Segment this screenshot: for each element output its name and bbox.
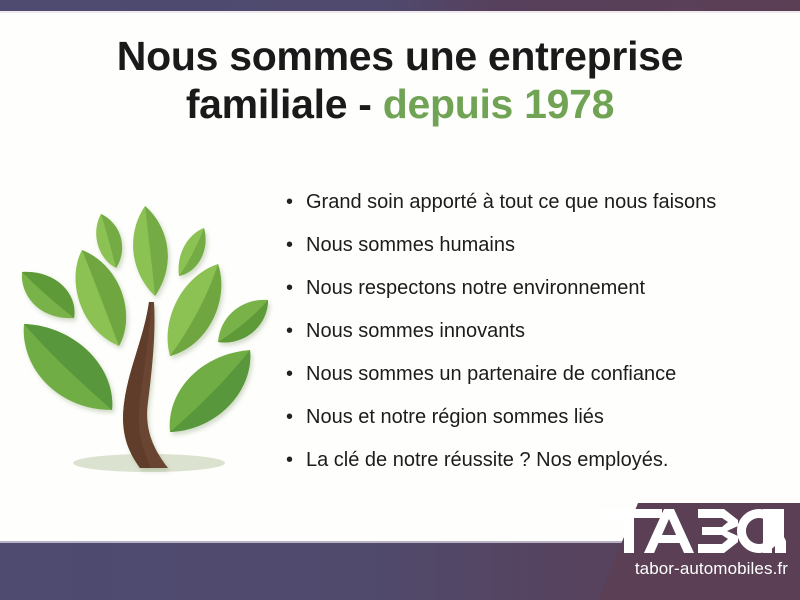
tabor-logo-wordmark (598, 509, 786, 553)
bullet-marker-icon: • (286, 235, 306, 255)
bullet-marker-icon: • (286, 407, 306, 427)
tree-leaf (133, 206, 168, 296)
list-item: • Nous sommes un partenaire de confiance (286, 363, 786, 406)
list-item-label: Nous respectons notre environnement (306, 277, 645, 300)
logo-tagline: tabor-automobiles.fr (560, 559, 788, 579)
list-item: • Nous sommes humains (286, 234, 786, 277)
bullet-marker-icon: • (286, 321, 306, 341)
title-line-2-accent: depuis 1978 (383, 81, 614, 127)
title-line-2-main: familiale - (186, 81, 383, 127)
list-item-label: Nous sommes humains (306, 234, 515, 257)
top-accent-bar (0, 0, 800, 11)
list-item: • Nous respectons notre environnement (286, 277, 786, 320)
top-accent-hairline (0, 11, 800, 13)
bullet-marker-icon: • (286, 278, 306, 298)
bullet-marker-icon: • (286, 192, 306, 212)
list-item: • Nous et notre région sommes liés (286, 406, 786, 449)
list-item-label: Nous et notre région sommes liés (306, 406, 604, 429)
tree-leaf (96, 214, 122, 268)
slide: Nous sommes une entreprise familiale - d… (0, 0, 800, 600)
title-line-1: Nous sommes une entreprise (0, 32, 800, 80)
list-item-label: La clé de notre réussite ? Nos employés. (306, 449, 668, 472)
tree-leaf (22, 272, 75, 318)
tree-leaf (24, 324, 113, 410)
list-item: • Grand soin apporté à tout ce que nous … (286, 191, 786, 234)
tree-trunk (123, 302, 168, 468)
page-title: Nous sommes une entreprise familiale - d… (0, 32, 800, 129)
list-item-label: Nous sommes un partenaire de confiance (306, 363, 676, 386)
tree-illustration (18, 192, 282, 482)
list-item-label: Grand soin apporté à tout ce que nous fa… (306, 191, 716, 214)
list-item: • La clé de notre réussite ? Nos employé… (286, 449, 786, 492)
tree-leaf (179, 228, 206, 276)
tree-leaf (170, 350, 251, 432)
bullet-marker-icon: • (286, 364, 306, 384)
tree-leaf (168, 264, 222, 356)
list-item-label: Nous sommes innovants (306, 320, 525, 343)
title-line-2: familiale - depuis 1978 (0, 80, 800, 128)
value-bullet-list: • Grand soin apporté à tout ce que nous … (286, 191, 786, 492)
bullet-marker-icon: • (286, 450, 306, 470)
tree-leaf (76, 250, 127, 346)
list-item: • Nous sommes innovants (286, 320, 786, 363)
tree-leaf (218, 300, 268, 343)
